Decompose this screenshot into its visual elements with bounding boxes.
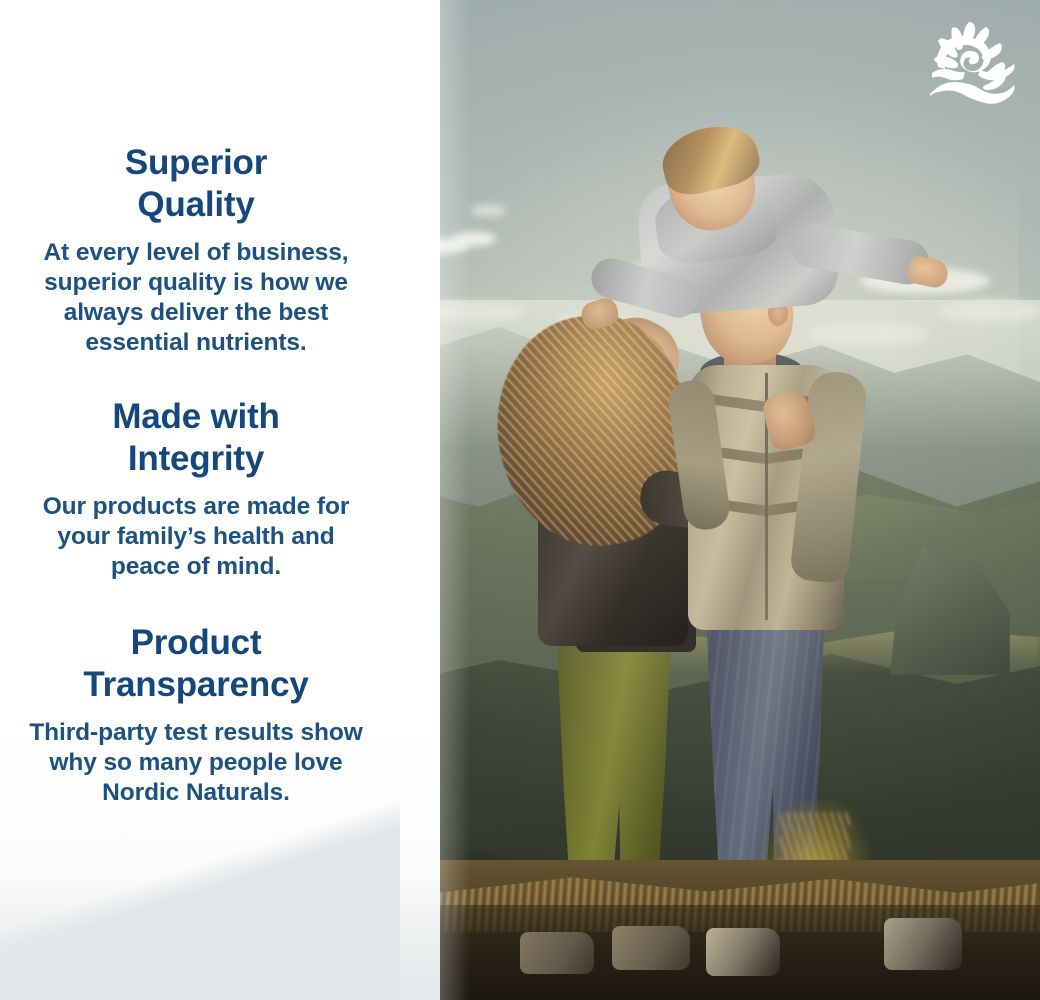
hiking-boot [706,928,780,976]
value-heading: SuperiorQuality [26,142,366,226]
value-heading: Made withIntegrity [26,396,366,480]
value-body: Our products are made for your family’s … [26,492,366,582]
value-heading-line1: Superior [125,143,267,182]
nordic-naturals-logo [922,18,1020,104]
value-block-made-with-integrity: Made withIntegrity Our products are made… [0,396,392,582]
value-heading-line2: Quality [137,185,254,224]
hiking-boot [520,932,594,974]
marketing-poster: SuperiorQuality At every level of busine… [0,0,1040,1000]
hiking-boot [884,918,962,970]
sun-and-waves-icon [922,18,1020,104]
hiking-boot [612,926,690,970]
value-body: Third-party test results show why so man… [26,718,366,808]
value-block-superior-quality: SuperiorQuality At every level of busine… [0,142,392,358]
value-heading: ProductTransparency [26,622,366,706]
cloud [470,205,506,216]
value-propositions: SuperiorQuality At every level of busine… [0,0,392,1000]
value-heading-line2: Integrity [128,439,264,478]
cloud [452,232,496,246]
value-heading-line2: Transparency [83,665,308,704]
value-body: At every level of business, superior qua… [26,238,366,358]
value-heading-line1: Product [131,623,262,662]
value-heading-line1: Made with [112,397,279,436]
value-block-product-transparency: ProductTransparency Third-party test res… [0,622,392,808]
